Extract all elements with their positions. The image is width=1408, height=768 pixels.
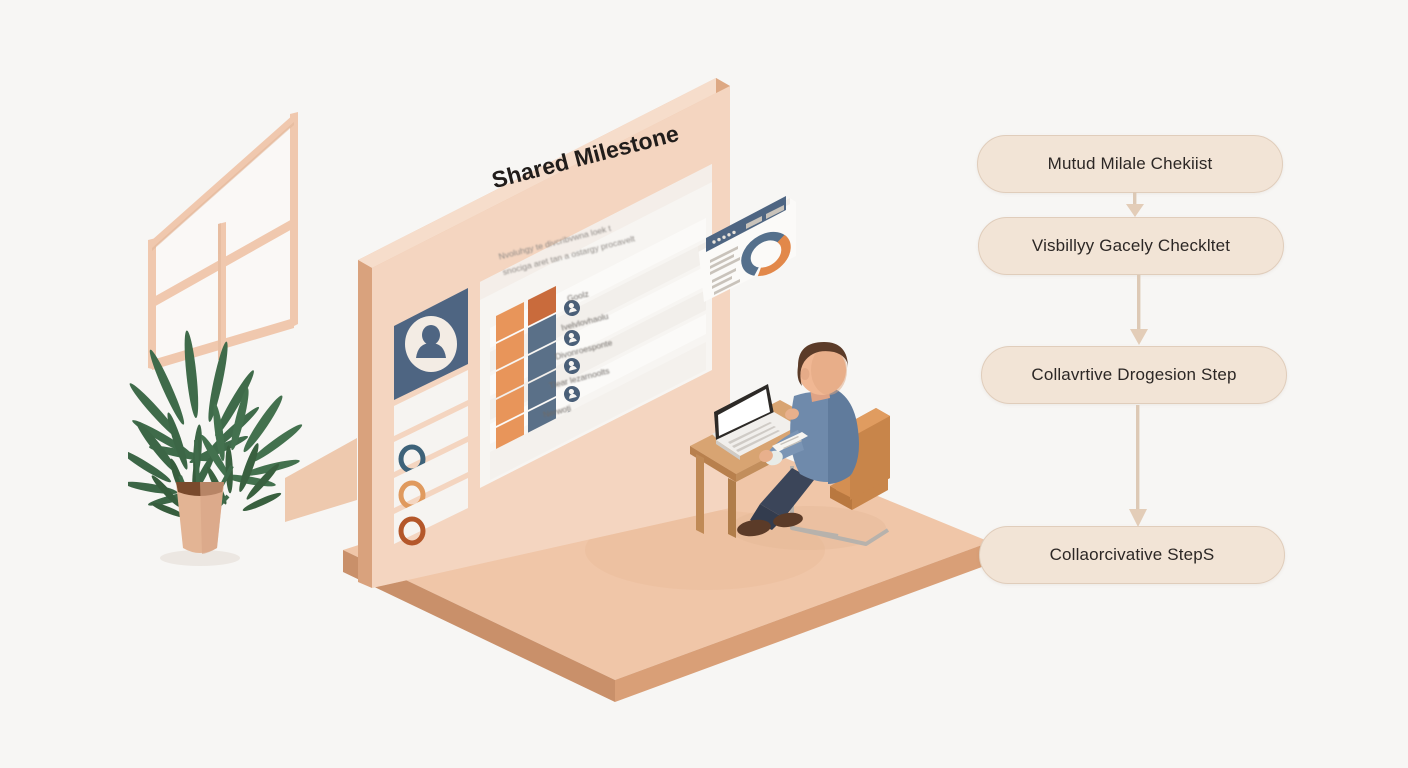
flow-box-3[interactable]: Collavrtive Drogesion Step [981, 346, 1287, 404]
flow-box-2-label: Visbillyy Gacely Checkltet [1032, 236, 1230, 256]
flow-box-4-label: Collaorcivative StepS [1050, 545, 1215, 565]
flow-box-1[interactable]: Mutud Milale Chekiist [977, 135, 1283, 193]
flow-arrow-2 [1126, 275, 1152, 347]
person-at-desk [688, 338, 913, 563]
shared-milestone-board [340, 70, 740, 590]
flow-box-4[interactable]: Collaorcivative StepS [979, 526, 1285, 584]
flow-arrow-3 [1125, 405, 1151, 529]
flow-box-1-label: Mutud Milale Chekiist [1048, 154, 1213, 174]
analytics-chart-card [694, 190, 800, 302]
process-flow: Mutud Milale Chekiist Visbillyy Gacely C… [975, 135, 1290, 590]
illustration-scene: Shared Milestone Nvoluhgy te divcribvwna… [0, 0, 1408, 768]
flow-box-3-label: Collavrtive Drogesion Step [1031, 365, 1236, 385]
flow-arrow-1 [1122, 192, 1148, 218]
flow-box-2[interactable]: Visbillyy Gacely Checkltet [978, 217, 1284, 275]
